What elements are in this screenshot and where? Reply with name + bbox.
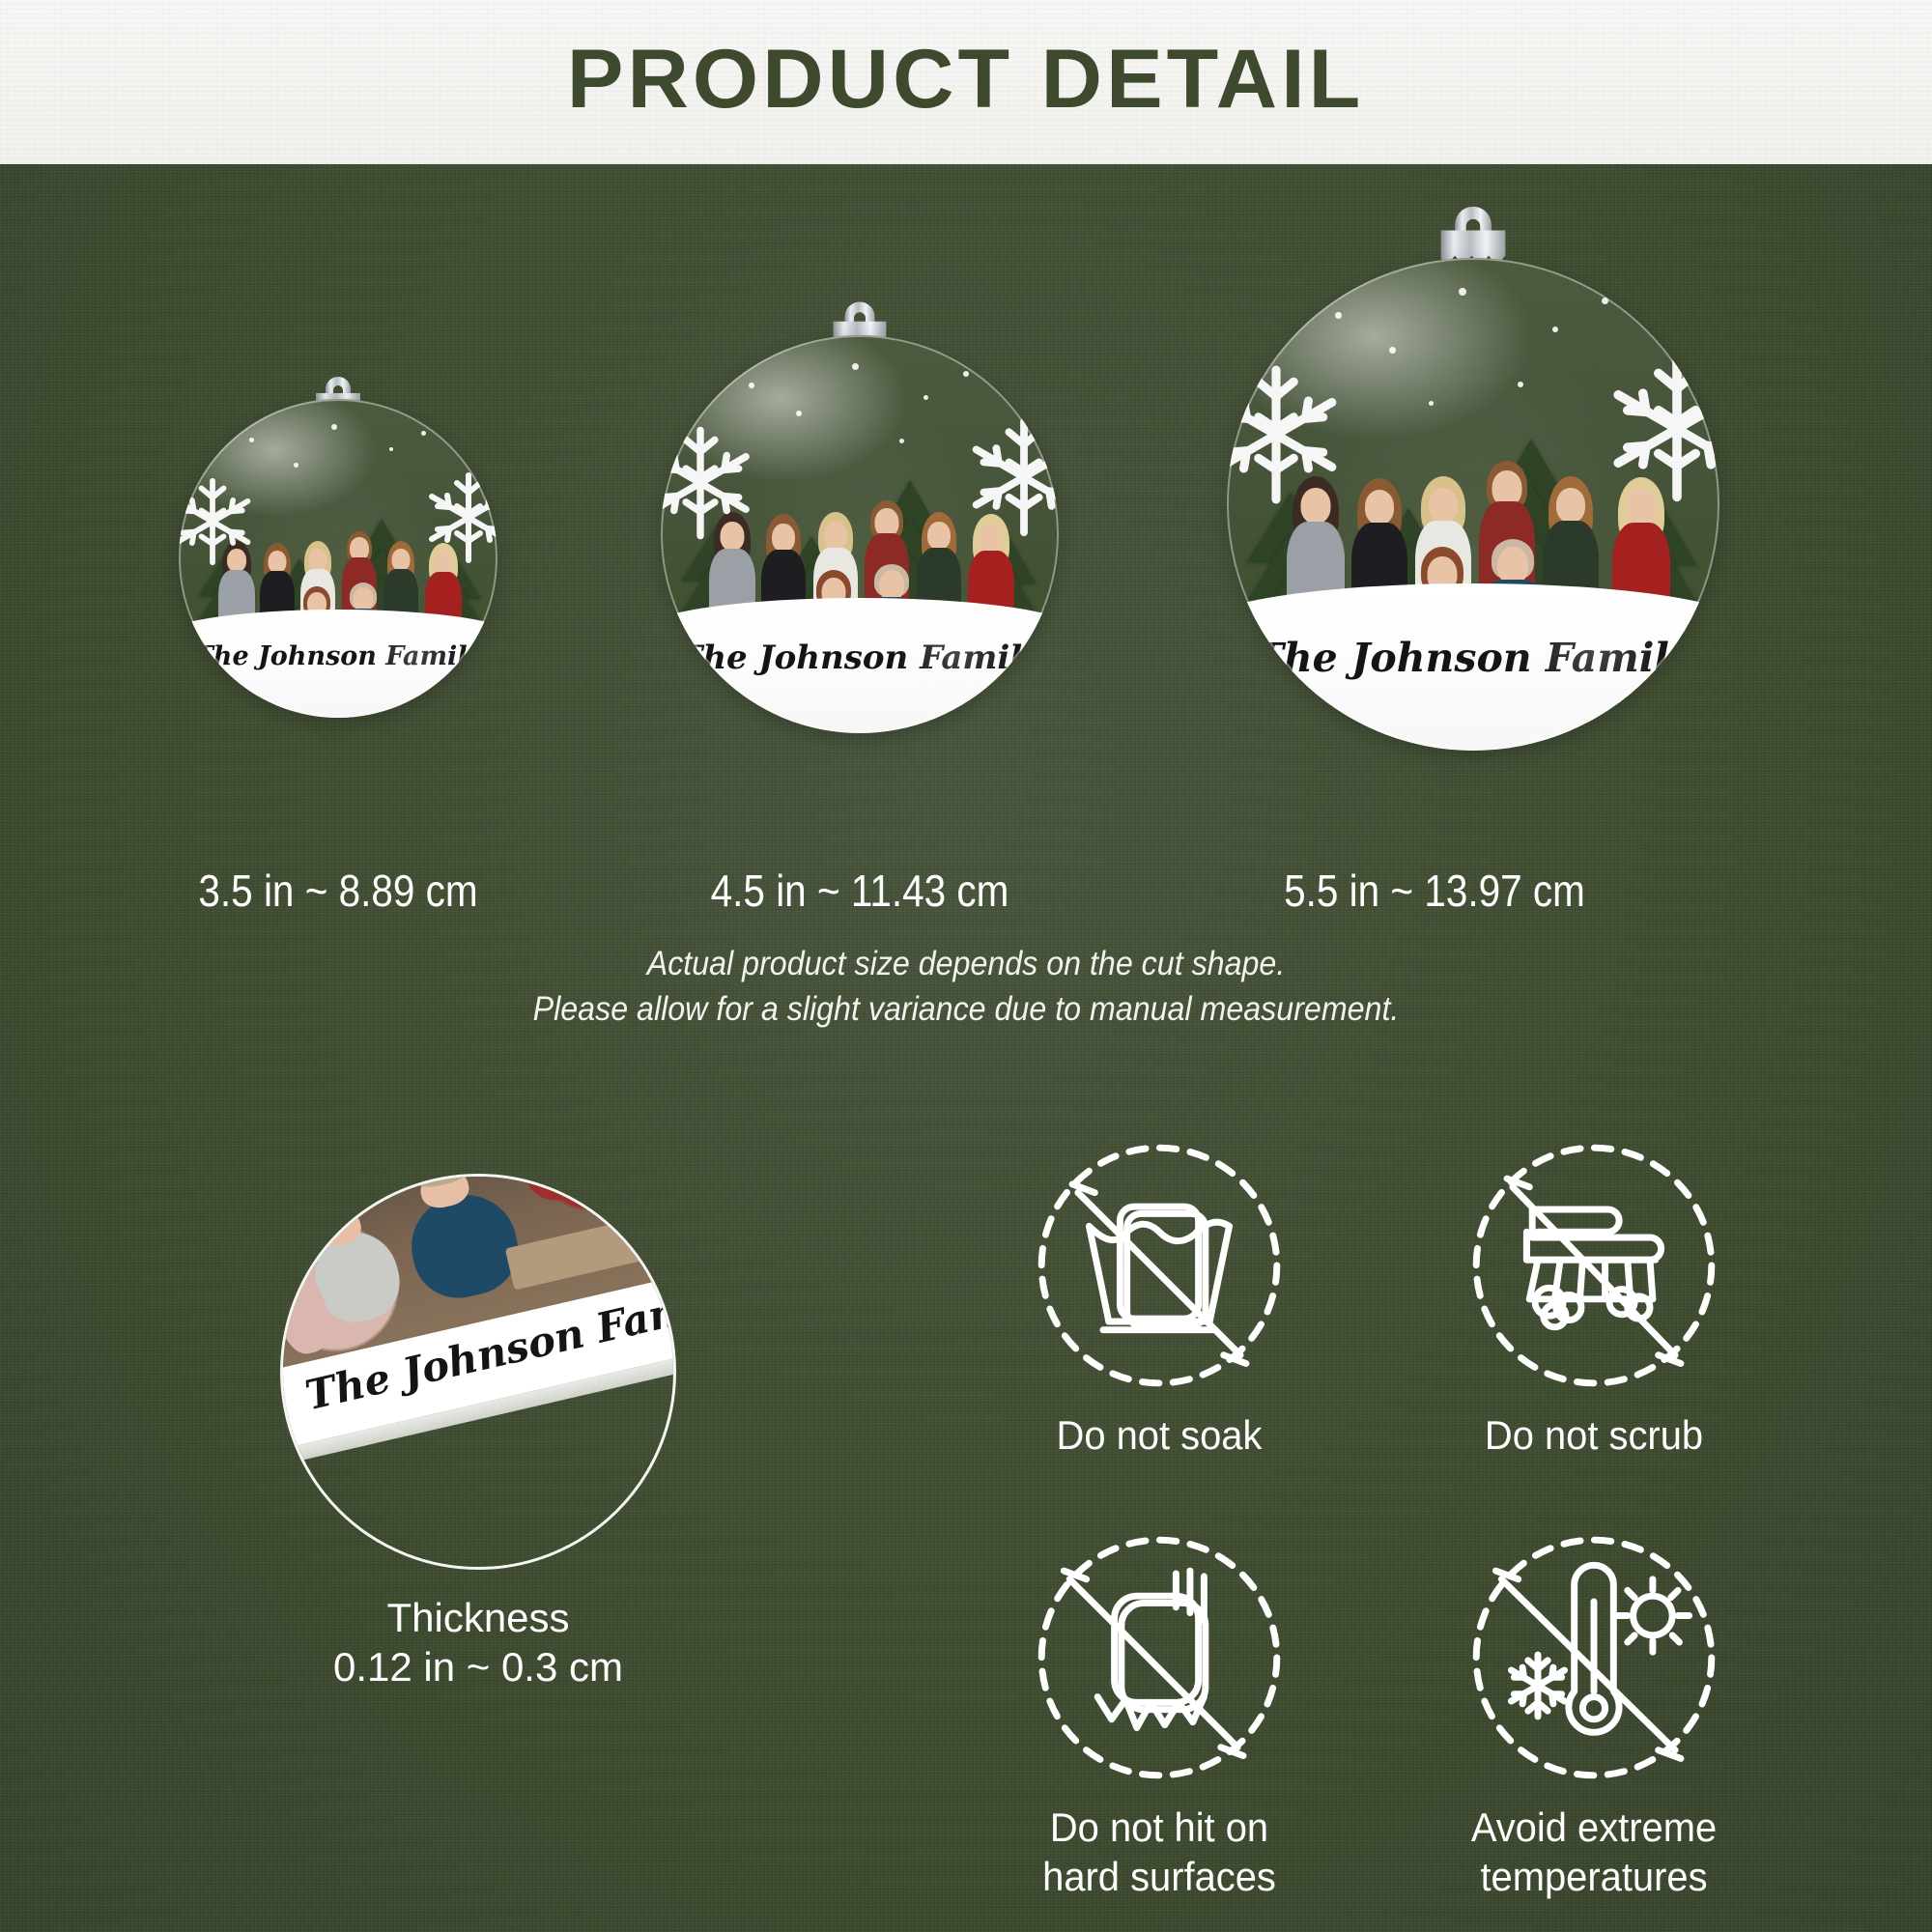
care-instructions-grid: Do not soak Do not scrub [976, 1125, 1777, 1901]
ornament-medium: The Johnson Family [628, 275, 1092, 845]
thickness-label: Thickness [246, 1593, 710, 1642]
care-label-line-1: Do not hit on [985, 1804, 1334, 1852]
ornament-photo: The Johnson Family [661, 335, 1059, 733]
care-label-do-not-hit: Do not hit on hard surfaces [985, 1804, 1334, 1901]
thickness-zoom-circle: The Johnson Fam [280, 1174, 676, 1570]
header-band: PRODUCT DETAIL [0, 0, 1932, 164]
care-item-avoid-extreme-temperatures: Avoid extreme temperatures [1410, 1518, 1777, 1901]
snowflake-icon [420, 469, 497, 566]
ornament-personalized-name: The Johnson Family [179, 641, 497, 671]
care-item-do-not-scrub: Do not scrub [1410, 1125, 1777, 1460]
size-label-medium: 4.5 in ~ 11.43 cm [647, 865, 1072, 917]
ornament-small: The Johnson Family [135, 343, 541, 845]
snowflake-icon [661, 423, 760, 543]
ornament-photo: The Johnson Family [1227, 258, 1719, 751]
page-title: PRODUCT DETAIL [567, 38, 1364, 127]
size-disclaimer: Actual product size depends on the cut s… [77, 942, 1855, 1032]
ornament-photo: The Johnson Family [179, 399, 497, 718]
no-extreme-temperature-icon [1454, 1518, 1734, 1798]
care-label-do-not-scrub: Do not scrub [1420, 1411, 1769, 1460]
ornament-ball: The Johnson Family [179, 399, 497, 718]
care-item-do-not-hit: Do not hit on hard surfaces [976, 1518, 1343, 1901]
snowflake-icon [1227, 361, 1350, 508]
snowflake-icon [179, 475, 259, 568]
size-label-small: 3.5 in ~ 8.89 cm [126, 865, 551, 917]
care-item-do-not-soak: Do not soak [976, 1125, 1343, 1460]
ornament-large: The Johnson Family [1188, 188, 1758, 845]
ornament-size-row: The Johnson Family [0, 169, 1932, 845]
snowflake-icon [961, 414, 1059, 540]
thickness-section: The Johnson Fam Thickness 0.12 in ~ 0.3 … [246, 1174, 710, 1691]
ornament-personalized-name: The Johnson Family [661, 639, 1059, 677]
no-scrub-icon [1454, 1125, 1734, 1406]
care-label-line-1: Avoid extreme [1420, 1804, 1769, 1852]
disclaimer-line-2: Please allow for a slight variance due t… [77, 987, 1855, 1033]
disclaimer-line-1: Actual product size depends on the cut s… [77, 942, 1855, 987]
care-label-do-not-soak: Do not soak [985, 1411, 1334, 1460]
size-label-large: 5.5 in ~ 13.97 cm [1222, 865, 1647, 917]
thickness-value: 0.12 in ~ 0.3 cm [246, 1642, 710, 1691]
product-detail-page: PRODUCT DETAIL [0, 0, 1932, 1932]
thickness-caption: Thickness 0.12 in ~ 0.3 cm [246, 1593, 710, 1691]
care-label-line-2: hard surfaces [985, 1853, 1334, 1901]
snowflake-icon [1600, 352, 1719, 506]
care-label-avoid-extreme-temperatures: Avoid extreme temperatures [1420, 1804, 1769, 1901]
ornament-ball: The Johnson Family [1227, 258, 1719, 751]
care-label-line-2: temperatures [1420, 1853, 1769, 1901]
ornament-ball: The Johnson Family [661, 335, 1059, 733]
ornament-personalized-name: The Johnson Family [1227, 635, 1719, 681]
no-soak-icon [1019, 1125, 1299, 1406]
no-impact-icon [1019, 1518, 1299, 1798]
